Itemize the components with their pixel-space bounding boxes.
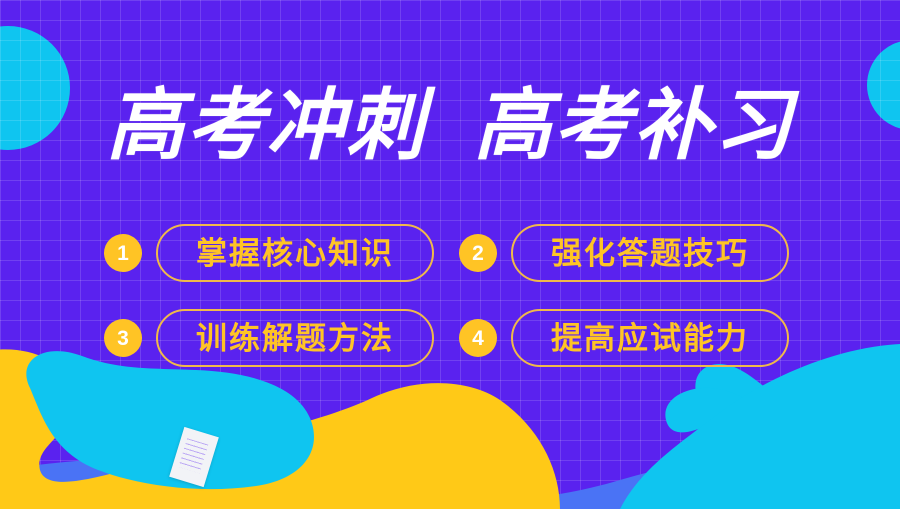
item-number-badge: 4 <box>459 319 497 357</box>
item-number-badge: 3 <box>104 319 142 357</box>
list-item[interactable]: 2 强化答题技巧 <box>459 222 814 284</box>
item-label-pill[interactable]: 训练解题方法 <box>156 309 434 367</box>
poster-content: 高考冲刺 高考补习 1 掌握核心知识 2 强化答题技巧 3 训练解题方法 4 提… <box>0 0 900 509</box>
item-label-pill[interactable]: 提高应试能力 <box>511 309 789 367</box>
item-number-badge: 1 <box>104 234 142 272</box>
poster-banner: 高考冲刺 高考补习 1 掌握核心知识 2 强化答题技巧 3 训练解题方法 4 提… <box>0 0 900 509</box>
item-label-pill[interactable]: 掌握核心知识 <box>156 224 434 282</box>
list-item[interactable]: 3 训练解题方法 <box>104 307 459 369</box>
item-number-badge: 2 <box>459 234 497 272</box>
list-item[interactable]: 1 掌握核心知识 <box>104 222 459 284</box>
item-label-pill[interactable]: 强化答题技巧 <box>511 224 789 282</box>
list-item[interactable]: 4 提高应试能力 <box>459 307 814 369</box>
feature-list: 1 掌握核心知识 2 强化答题技巧 3 训练解题方法 4 提高应试能力 <box>104 222 804 369</box>
page-title: 高考冲刺 高考补习 <box>0 86 900 164</box>
